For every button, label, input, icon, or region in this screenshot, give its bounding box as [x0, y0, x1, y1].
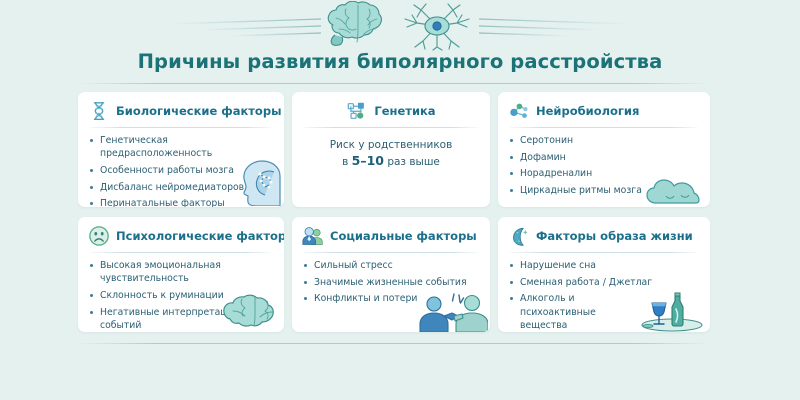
list-item: Особенности работы мозга: [88, 164, 274, 177]
list-item: Норадреналин: [508, 167, 700, 180]
list-item: Генетическая предрасположенность: [88, 134, 274, 161]
card-title-divider: [90, 252, 272, 253]
card-item-list: Генетическая предрасположенность Особенн…: [88, 134, 274, 207]
neuron-icon: [395, 1, 479, 51]
card-title: Факторы образа жизни: [536, 229, 693, 243]
card-neurobiology[interactable]: Нейробиология Серотонин Дофамин Норадрен…: [498, 92, 710, 207]
genetics-prefix: в: [342, 156, 352, 168]
list-item: Серотонин: [508, 134, 700, 147]
genetics-line-one: Риск у родственников: [302, 137, 480, 153]
card-title: Биологические факторы: [116, 104, 281, 118]
list-item: Конфликты и потери: [302, 292, 480, 305]
dna-helix-icon: [88, 100, 110, 122]
header-divider: [78, 83, 710, 84]
genetics-suffix: раз выше: [384, 156, 440, 168]
list-item: Перинатальные факторы: [88, 197, 274, 207]
card-header: Факторы образа жизни: [508, 225, 700, 247]
card-header: Биологические факторы: [88, 100, 274, 122]
speed-lines-right-icon: [479, 6, 629, 46]
card-title-divider: [304, 252, 478, 253]
list-item: Алкоголь и психоактивные вещества: [508, 292, 700, 332]
card-item-list: Высокая эмоциональная чувствительность С…: [88, 259, 274, 332]
genetics-statement: Риск у родственников в 5–10 раз выше: [302, 134, 480, 170]
sad-face-icon: [88, 225, 110, 247]
card-header: Генетика: [302, 100, 480, 122]
card-title: Нейробиология: [536, 104, 639, 118]
footer-divider: [78, 343, 710, 344]
card-lifestyle[interactable]: Факторы образа жизни Нарушение сна Сменн…: [498, 217, 710, 332]
genetics-value: 5–10: [352, 153, 384, 168]
list-item: Нарушение сна: [508, 259, 700, 272]
card-title: Психологические факторы: [116, 229, 284, 243]
card-biological[interactable]: Биологические факторы Генетическая предр…: [78, 92, 284, 207]
page-header: Причины развития биполярного расстройств…: [0, 0, 800, 84]
card-social[interactable]: Социальные факторы Сильный стресс Значим…: [292, 217, 490, 332]
card-genetics[interactable]: Генетика Риск у родственников в 5–10 раз…: [292, 92, 490, 207]
card-title-divider: [510, 252, 698, 253]
card-header: Социальные факторы: [302, 225, 480, 247]
molecule-icon: [508, 100, 530, 122]
card-header: Нейробиология: [508, 100, 700, 122]
list-item: Значимые жизненные события: [302, 276, 480, 289]
page-title: Причины развития биполярного расстройств…: [0, 50, 800, 73]
list-item: Высокая эмоциональная чувствительность: [88, 259, 274, 286]
list-item: Циркадные ритмы мозга: [508, 184, 700, 197]
list-item: Сменная работа / Джетлаг: [508, 276, 700, 289]
list-item: Негативные интерпретации событий: [88, 306, 274, 332]
brain-icon: [321, 1, 395, 51]
factors-grid: Биологические факторы Генетическая предр…: [78, 92, 710, 332]
speed-lines-left-icon: [171, 6, 321, 46]
card-item-list: Сильный стресс Значимые жизненные событи…: [302, 259, 480, 306]
list-item: Дофамин: [508, 151, 700, 164]
card-title-divider: [90, 127, 272, 128]
card-psychological[interactable]: Психологические факторы Высокая эмоциона…: [78, 217, 284, 332]
crescent-moon-icon: [508, 225, 530, 247]
list-item: Сильный стресс: [302, 259, 480, 272]
card-item-list: Серотонин Дофамин Норадреналин Циркадные…: [508, 134, 700, 197]
list-item: Склонность к руминации: [88, 289, 274, 302]
card-title: Социальные факторы: [330, 229, 477, 243]
family-pedigree-icon: [346, 100, 368, 122]
card-title-divider: [304, 127, 478, 128]
header-illustration: [0, 2, 800, 50]
card-title-divider: [510, 127, 698, 128]
genetics-line-two: в 5–10 раз выше: [302, 153, 480, 170]
card-header: Психологические факторы: [88, 225, 274, 247]
card-item-list: Нарушение сна Сменная работа / Джетлаг А…: [508, 259, 700, 332]
two-people-icon: [302, 225, 324, 247]
list-item: Дисбаланс нейромедиаторов: [88, 181, 274, 194]
card-title: Генетика: [374, 104, 435, 118]
